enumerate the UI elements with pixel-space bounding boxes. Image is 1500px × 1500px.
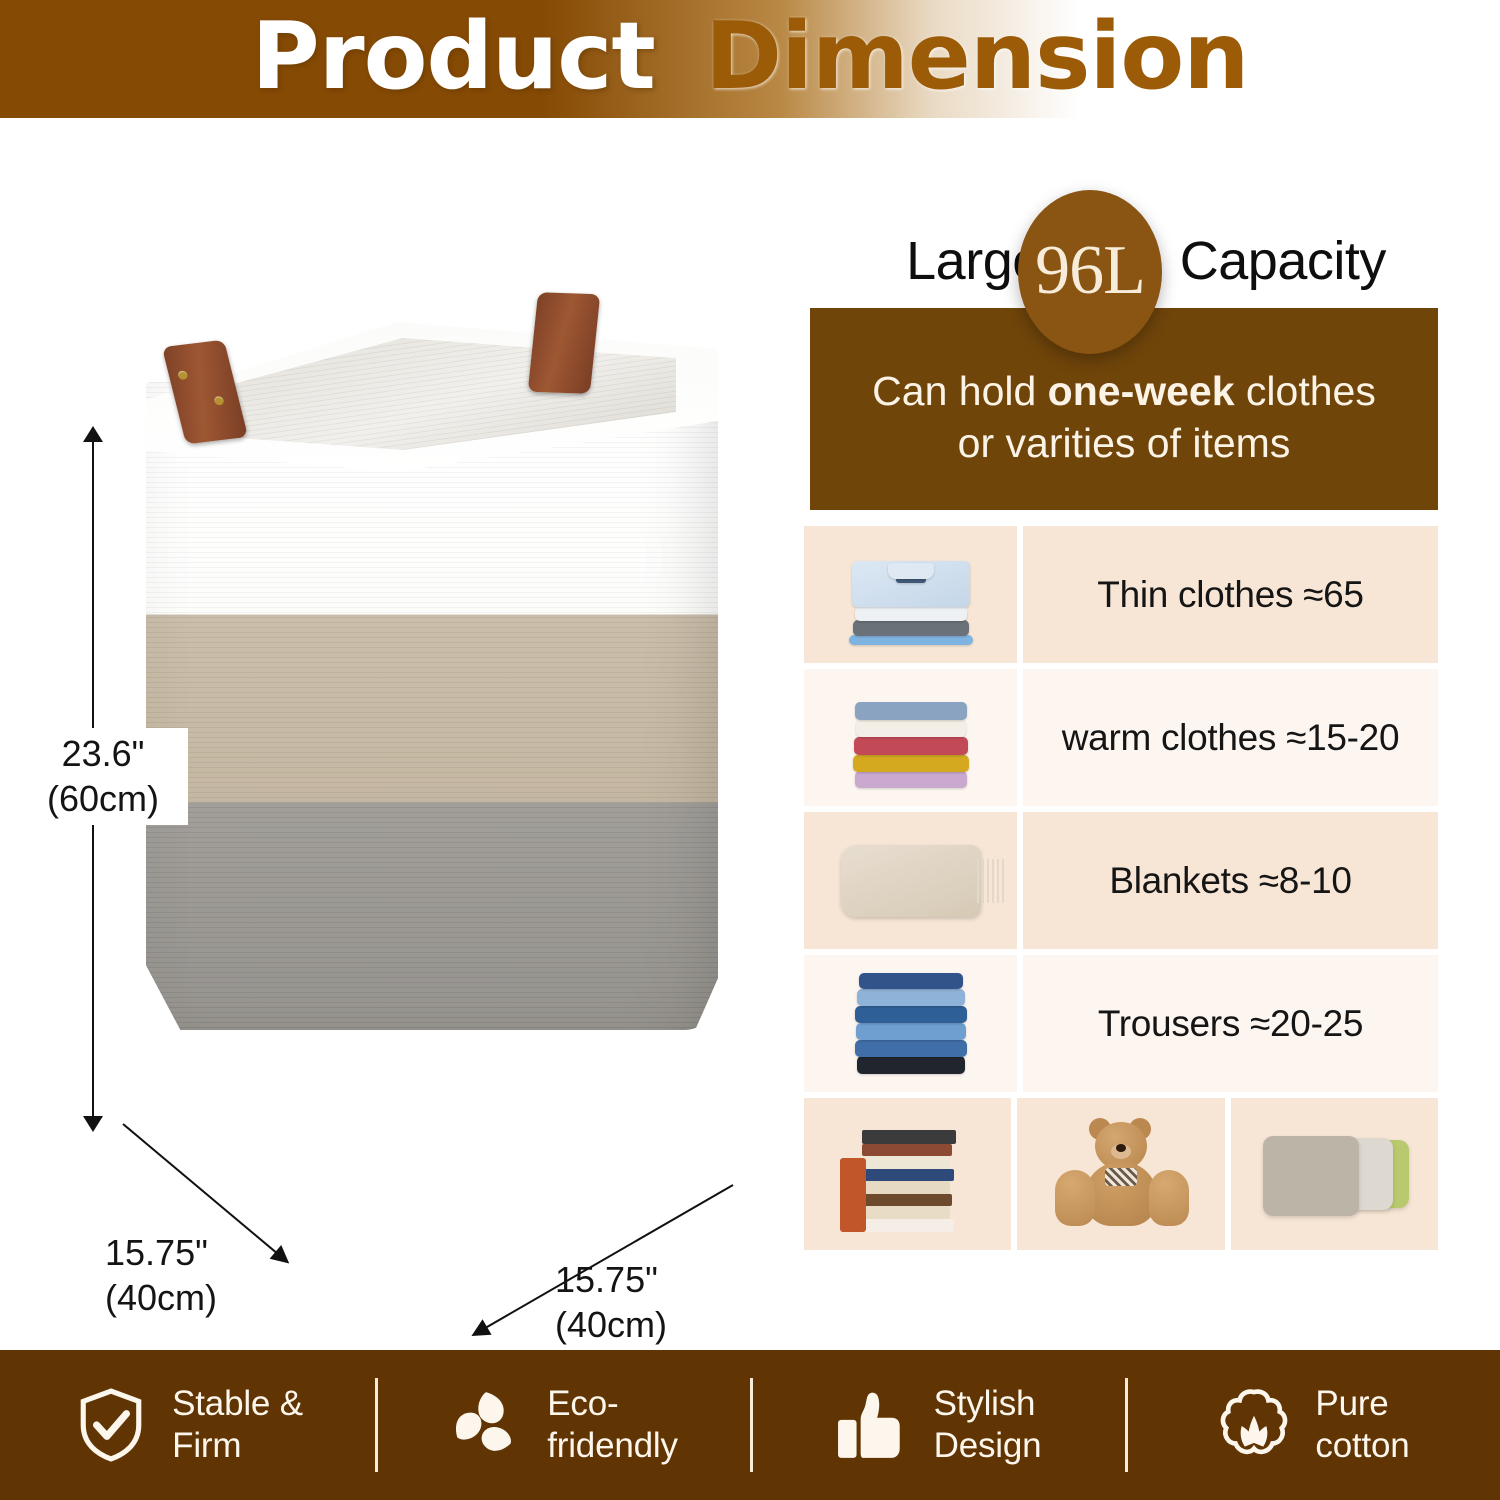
folded-sweaters-icon <box>804 669 1017 806</box>
capacity-row-label: Trousers ≈20-25 <box>1023 955 1438 1092</box>
capacity-row-label: Thin clothes ≈65 <box>1023 526 1438 663</box>
dimension-diagram-panel: 23.6" (60cm) 15.75" (40cm) 15.75" (40cm)… <box>0 118 790 1350</box>
page-header: Product Dimension <box>0 0 1500 118</box>
width-right-dimension-label: 15.75" (40cm) <box>555 1258 667 1347</box>
height-inches: 23.6" <box>18 732 188 777</box>
table-row: Trousers ≈20-25 <box>804 955 1438 1092</box>
shield-check-icon <box>72 1386 150 1464</box>
capacity-suffix: Capacity <box>1180 231 1386 291</box>
teddy-bear-icon <box>1017 1098 1224 1250</box>
width-left-cm: (40cm) <box>105 1276 217 1321</box>
header-word-dimension: Dimension <box>705 10 1249 103</box>
feature-bar: Stable & Firm Eco- fridendly Stylish Des… <box>0 1350 1500 1500</box>
table-row: warm clothes ≈15-20 <box>804 669 1438 806</box>
feature-pure-cotton: Pure cotton <box>1125 1350 1500 1500</box>
feature-label: Stable & Firm <box>172 1383 303 1467</box>
table-row <box>804 1098 1438 1250</box>
book-stack-icon <box>804 1098 1011 1250</box>
height-cm: (60cm) <box>18 777 188 822</box>
capacity-badge: 96L <box>1018 190 1162 354</box>
feature-label: Stylish Design <box>934 1383 1042 1467</box>
hold-text-a: Can hold <box>872 368 1048 414</box>
pillow-stack-icon <box>1231 1098 1438 1250</box>
cotton-boll-icon <box>1215 1386 1293 1464</box>
hold-text-c: clothes <box>1235 368 1376 414</box>
feature-label: Pure cotton <box>1315 1383 1409 1467</box>
table-row: Thin clothes ≈65 <box>804 526 1438 663</box>
table-row: Blankets ≈8-10 <box>804 812 1438 949</box>
capacity-row-label: Blankets ≈8-10 <box>1023 812 1438 949</box>
feature-stable-firm: Stable & Firm <box>0 1350 375 1500</box>
folded-blanket-icon <box>804 812 1017 949</box>
capacity-description-line-2: or varities of items <box>958 418 1291 470</box>
width-right-inches: 15.75" <box>555 1258 667 1303</box>
capacity-table: Thin clothes ≈65 warm clothes ≈15-20 Bla… <box>804 526 1438 1250</box>
width-right-cm: (40cm) <box>555 1303 667 1348</box>
feature-stylish-design: Stylish Design <box>750 1350 1125 1500</box>
capacity-badge-value: 96L <box>1035 231 1145 311</box>
hold-text-bold: one-week <box>1048 368 1235 414</box>
folded-shirts-icon <box>804 526 1017 663</box>
capacity-description-line-1: Can hold one-week clothes <box>872 366 1376 418</box>
folded-jeans-icon <box>804 955 1017 1092</box>
leather-handle-right-icon <box>528 292 601 394</box>
capacity-row-label: warm clothes ≈15-20 <box>1023 669 1438 806</box>
height-dimension-label: 23.6" (60cm) <box>18 728 188 825</box>
width-left-dimension-label: 15.75" (40cm) <box>105 1231 217 1320</box>
feature-eco-friendly: Eco- fridendly <box>375 1350 750 1500</box>
width-left-inches: 15.75" <box>105 1231 217 1276</box>
product-image-basket <box>118 286 738 1046</box>
header-word-product: Product <box>252 10 655 103</box>
feature-label: Eco- fridendly <box>547 1383 678 1467</box>
recycle-leaves-icon <box>447 1386 525 1464</box>
capacity-panel: LargeCapacity 96L Can hold one-week clot… <box>790 118 1500 1350</box>
thumbs-up-icon <box>834 1386 912 1464</box>
basket-body <box>146 382 718 1030</box>
